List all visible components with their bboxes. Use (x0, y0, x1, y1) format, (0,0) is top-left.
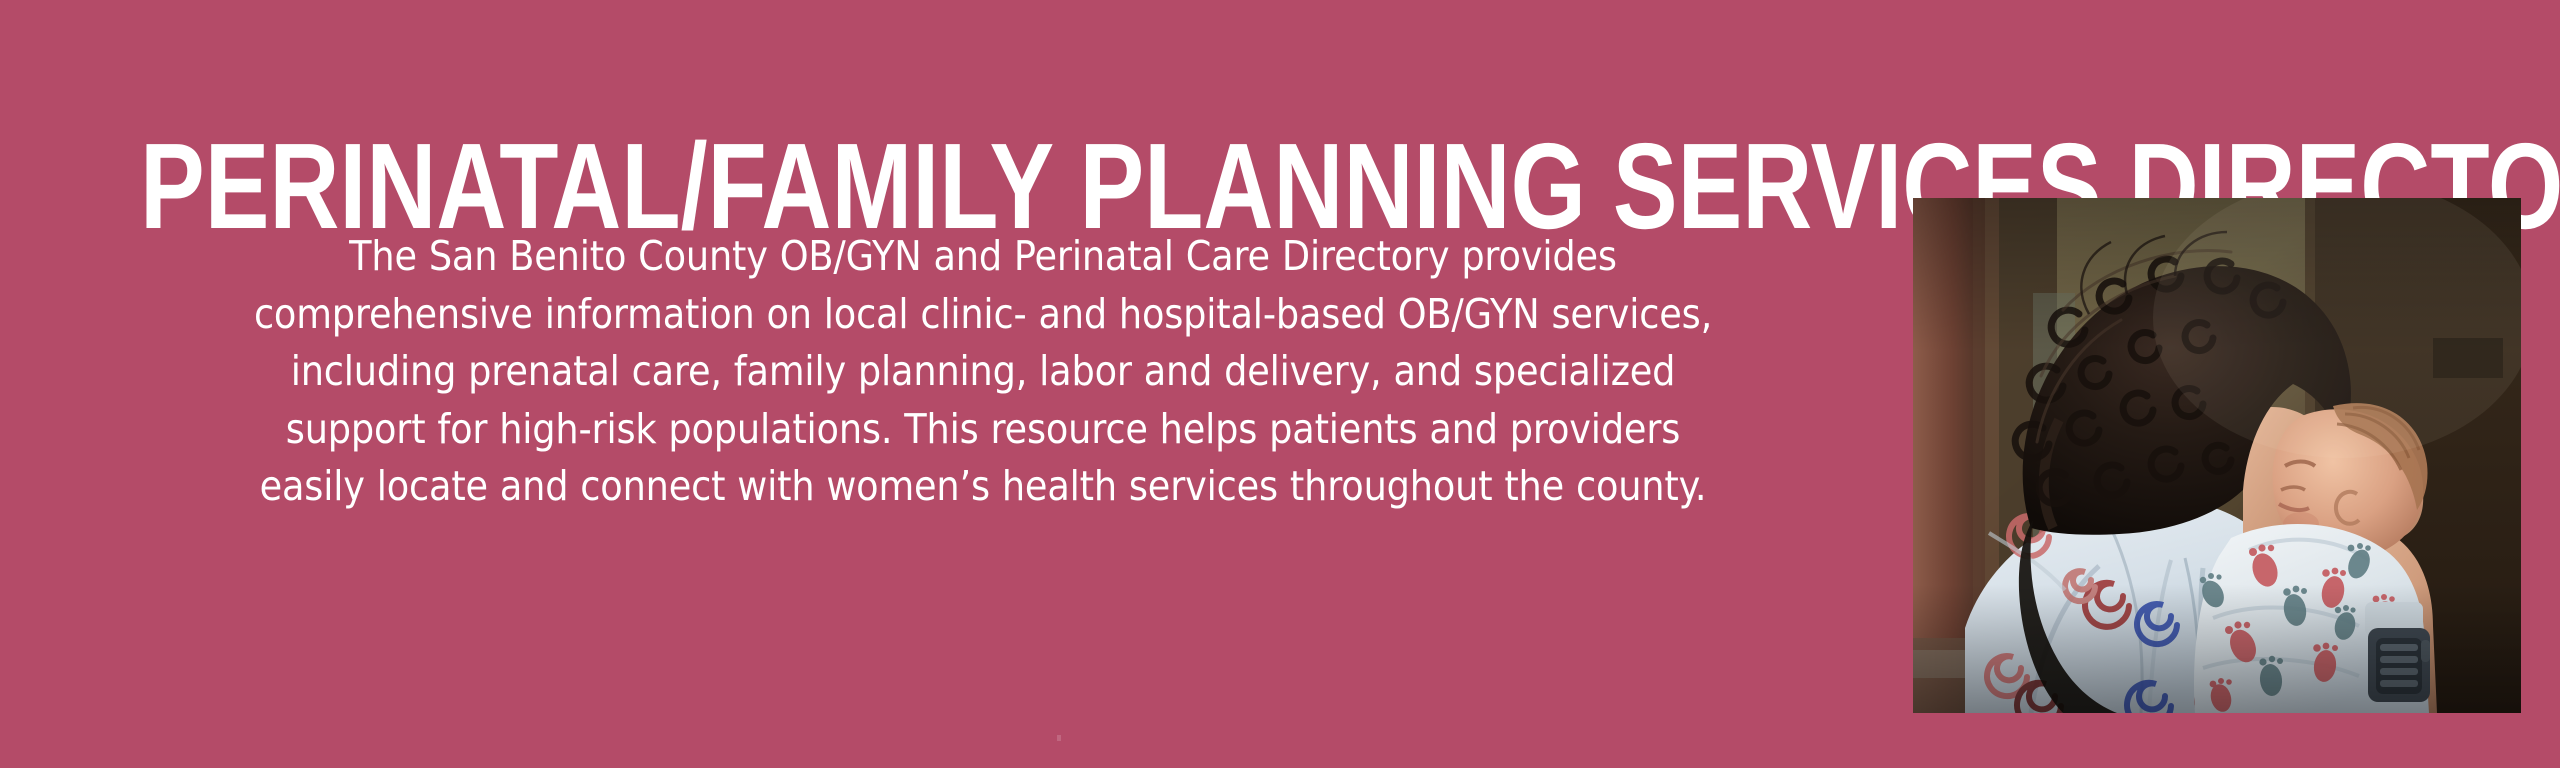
image-artifact-speck (1057, 735, 1061, 741)
paragraph-line: including prenatal care, family planning… (157, 343, 1809, 401)
intro-paragraph: The San Benito County OB/GYN and Perinat… (60, 228, 1906, 516)
paragraph-line: support for high-risk populations. This … (157, 401, 1809, 459)
mother-and-newborn-photo (1913, 198, 2521, 713)
perinatal-services-banner: PERINATAL/FAMILY PLANNING SERVICES DIREC… (0, 0, 2560, 768)
paragraph-line: The San Benito County OB/GYN and Perinat… (157, 228, 1809, 286)
photo-illustration (1913, 198, 2521, 713)
paragraph-line: comprehensive information on local clini… (157, 286, 1809, 344)
paragraph-line: easily locate and connect with women’s h… (157, 458, 1809, 516)
